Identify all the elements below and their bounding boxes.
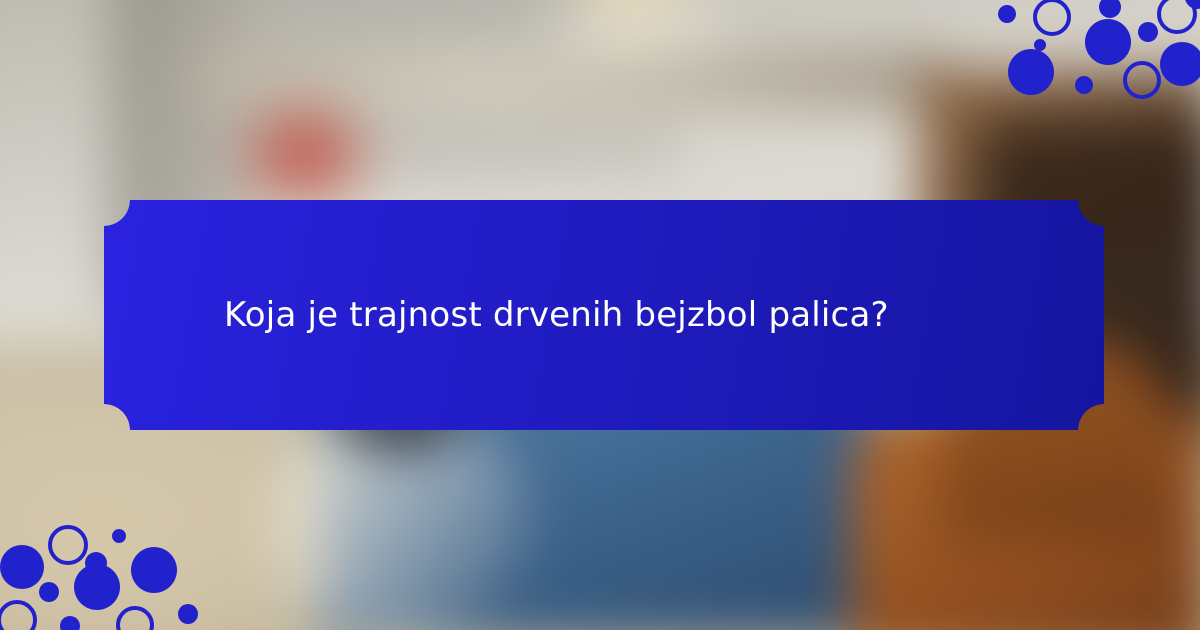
decor-circle [1033,0,1071,36]
poster-canvas: Koja je trajnost drvenih bejzbol palica? [0,0,1200,630]
decor-circle [1123,61,1161,99]
decor-circle [39,582,59,602]
decor-circle [131,547,177,593]
decor-circle [60,616,80,630]
background-red-object [240,100,370,210]
decor-circle [998,5,1016,23]
question-banner: Koja je trajnost drvenih bejzbol palica? [104,200,1104,430]
decor-circle [74,564,120,610]
decor-circle [0,545,44,589]
decor-circle [112,529,126,543]
bottom-left-dots [0,522,207,630]
decor-circle [116,606,154,630]
decor-circle [1075,76,1093,94]
decor-circle [1138,22,1158,42]
decor-circle [1008,49,1054,95]
decor-circle [178,604,198,624]
decor-circle [1085,19,1131,65]
decor-circle [1160,42,1200,86]
decor-circle [48,525,88,565]
question-title: Koja je trajnost drvenih bejzbol palica? [104,294,889,337]
decor-circle [0,600,37,630]
decor-circle [1099,0,1121,18]
top-right-dots [985,0,1200,102]
